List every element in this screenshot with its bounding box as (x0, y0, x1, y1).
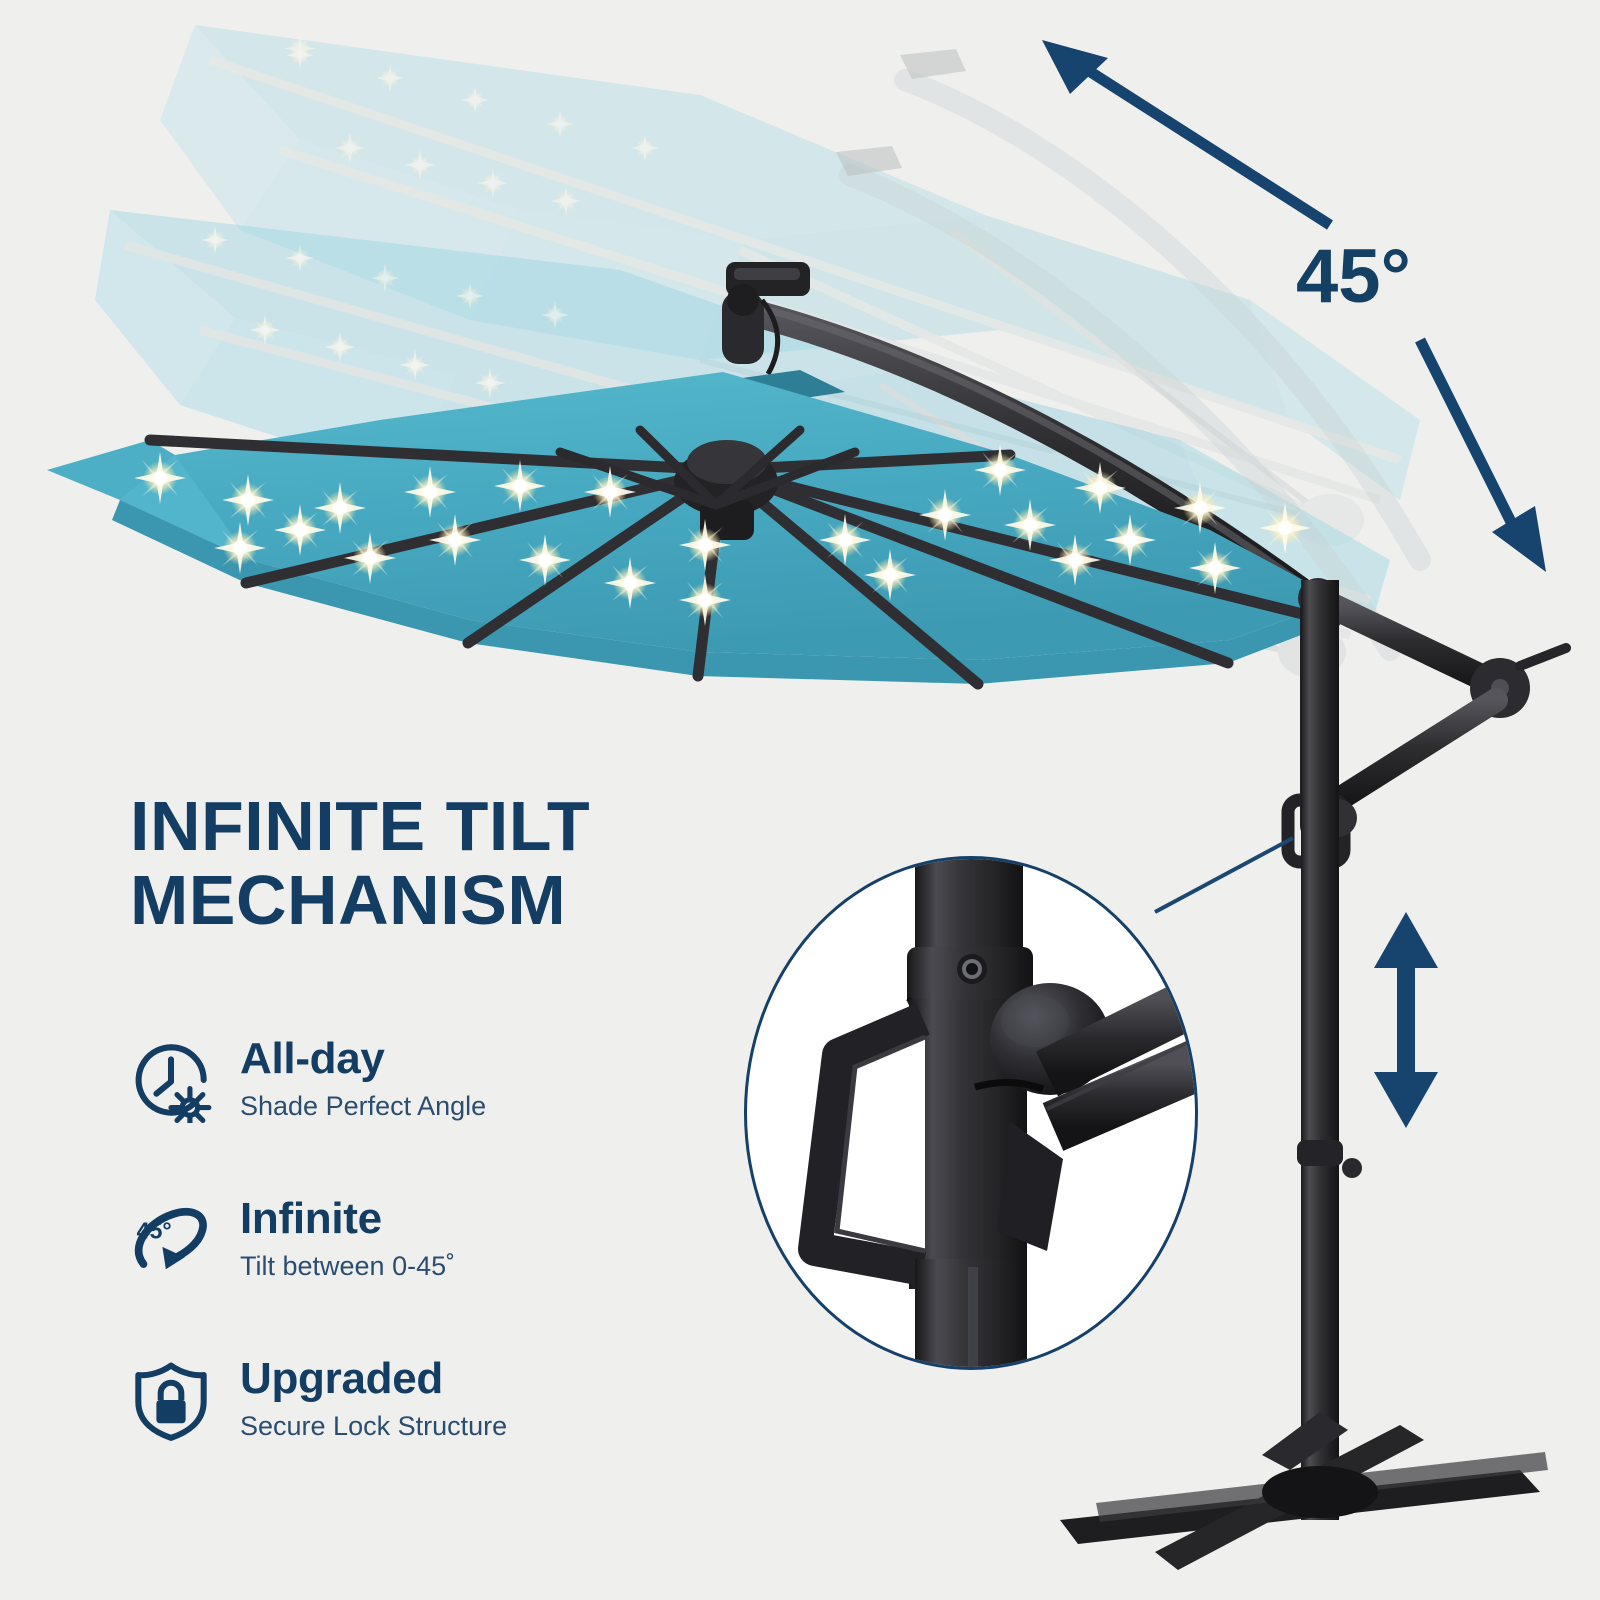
feature-subtitle: Secure Lock Structure (240, 1409, 507, 1444)
feature-item-upgraded: Upgraded Secure Lock Structure (128, 1320, 688, 1480)
feature-text-infinite: Infinite Tilt between 0-45˚ (240, 1196, 455, 1283)
feature-text-upgraded: Upgraded Secure Lock Structure (240, 1356, 507, 1443)
feature-item-all-day: All-day Shade Perfect Angle (128, 1000, 688, 1160)
feature-text-all-day: All-day Shade Perfect Angle (240, 1036, 486, 1123)
feature-list: All-day Shade Perfect Angle 45° Infinite… (128, 1000, 688, 1480)
height-adjust-double-arrow (1374, 912, 1438, 1128)
ghost-hub-brackets (836, 49, 966, 176)
tilt-mechanism-detail-circle (744, 856, 1198, 1370)
feature-title: Upgraded (240, 1356, 507, 1402)
tilt-angle-label: 45° (1296, 233, 1411, 320)
svg-text:45°: 45° (137, 1217, 172, 1243)
rotation-45-degree-icon: 45° (128, 1197, 214, 1283)
cross-base (1060, 1412, 1548, 1570)
feature-item-infinite: 45° Infinite Tilt between 0-45˚ (128, 1160, 688, 1320)
tilt-arrow-up-left (1042, 40, 1330, 225)
feature-title: Infinite (240, 1196, 455, 1242)
shield-lock-icon (128, 1357, 214, 1443)
feature-title: All-day (240, 1036, 486, 1082)
tilt-mechanism-closeup-art (747, 859, 1195, 1367)
page-title: INFINITE TILT MECHANISM (130, 790, 750, 937)
infographic-canvas: 45° INFINITE TILT MECHANISM All-day Shad… (0, 0, 1600, 1600)
feature-subtitle: Tilt between 0-45˚ (240, 1249, 455, 1284)
tilt-arrow-down-right (1420, 340, 1546, 572)
feature-subtitle: Shade Perfect Angle (240, 1089, 486, 1124)
clock-sun-icon (128, 1037, 214, 1123)
